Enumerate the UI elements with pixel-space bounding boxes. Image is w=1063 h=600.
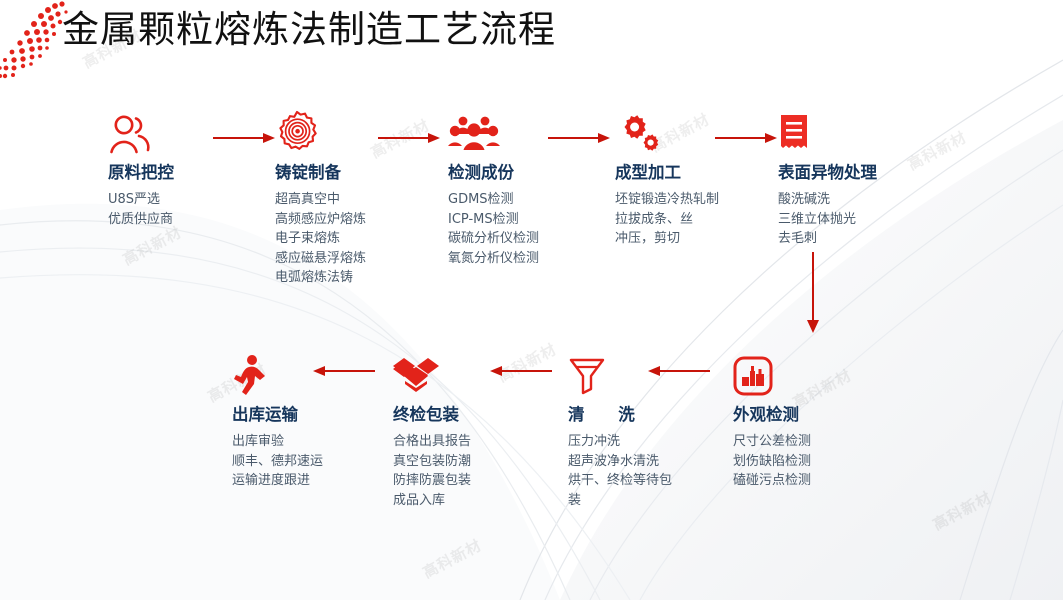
step-detail-line: 高频感应炉熔炼 [275,210,366,230]
step-detail-lines: 超高真空中 高频感应炉熔炼 电子束熔炼 感应磁悬浮熔炼 电弧熔炼法铸 [275,190,366,288]
step-detail-line: 划伤缺陷检测 [733,452,811,472]
arrow-right-icon [715,132,777,144]
step-detail-line: 感应磁悬浮熔炼 [275,249,366,269]
step-detail-lines: 尺寸公差检测 划伤缺陷检测 磕碰污点检测 [733,432,811,491]
step-title: 清 洗 [568,404,672,426]
watermark: 高科新材 [419,534,485,583]
step-raw-material-control[interactable]: 原料把控 U8S严选 优质供应商 [108,110,174,229]
watermark: 高科新材 [494,338,560,387]
step-icon-container [733,352,811,396]
open-box-filled-icon [393,356,439,396]
arrow-right-icon [548,132,610,144]
step-detail-line: 坯锭锻造冷热轧制 [615,190,719,210]
step-detail-lines: 坯锭锻造冷热轧制 拉拔成条、丝 冲压，剪切 [615,190,719,249]
step-detail-line: 运输进度跟进 [232,471,323,491]
step-title: 检测成份 [448,162,539,184]
step-cleaning[interactable]: 清 洗 压力冲洗 超声波净水清洗 烘干、终检等待包装 [568,352,672,510]
step-detail-line: 拉拔成条、丝 [615,210,719,230]
arrow-right-icon [378,132,440,144]
step-detail-line: 超高真空中 [275,190,366,210]
watermark: 高科新材 [904,126,970,175]
step-detail-line: ICP-MS检测 [448,210,539,230]
watermark: 高科新材 [929,486,995,535]
step-title: 原料把控 [108,162,174,184]
two-people-outline-icon [108,114,154,154]
background-decoration [0,0,1063,600]
step-outbound-shipping[interactable]: 出库运输 出库审验 顺丰、德邦速运 运输进度跟进 [232,352,323,491]
step-detail-line: 出库审验 [232,432,323,452]
step-title: 出库运输 [232,404,323,426]
step-icon-container [108,110,174,154]
step-title: 终检包装 [393,404,471,426]
page-title: 金属颗粒熔炼法制造工艺流程 [62,6,556,54]
step-icon-container [778,110,877,154]
step-detail-line: 碳硫分析仪检测 [448,229,539,249]
step-detail-line: 真空包装防潮 [393,452,471,472]
step-detail-line: 合格出具报告 [393,432,471,452]
step-detail-line: 尺寸公差检测 [733,432,811,452]
step-detail-line: 磕碰污点检测 [733,471,811,491]
step-detail-line: 电弧熔炼法铸 [275,268,366,288]
step-composition-inspection[interactable]: 检测成份 GDMS检测 ICP-MS检测 碳硫分析仪检测 氧氮分析仪检测 [448,110,539,268]
step-detail-line: GDMS检测 [448,190,539,210]
funnel-outline-icon [568,356,606,396]
step-detail-line: 酸洗碱洗 [778,190,877,210]
document-list-filled-icon [778,114,810,154]
step-icon-container [275,110,366,154]
arrow-left-icon [490,365,552,377]
step-appearance-inspection[interactable]: 外观检测 尺寸公差检测 划伤缺陷检测 磕碰污点检测 [733,352,811,491]
step-detail-line: 优质供应商 [108,210,174,230]
step-detail-line: 电子束熔炼 [275,229,366,249]
people-group-filled-icon [448,114,500,154]
step-detail-line: 去毛刺 [778,229,877,249]
step-icon-container [568,352,672,396]
step-detail-lines: 酸洗碱洗 三维立体抛光 去毛刺 [778,190,877,249]
step-title: 成型加工 [615,162,719,184]
step-title: 外观检测 [733,404,811,426]
step-detail-lines: U8S严选 优质供应商 [108,190,174,229]
step-ingot-preparation[interactable]: 铸锭制备 超高真空中 高频感应炉熔炼 电子束熔炼 感应磁悬浮熔炼 电弧熔炼法铸 [275,110,366,288]
step-title: 铸锭制备 [275,162,366,184]
step-icon-container [232,352,323,396]
step-icon-container [615,110,719,154]
step-detail-line: 成品入库 [393,491,471,511]
step-icon-container [448,110,539,154]
step-detail-line: 压力冲洗 [568,432,672,452]
step-detail-line: 超声波净水清洗 [568,452,672,472]
step-surface-foreign-matter-treatment[interactable]: 表面异物处理 酸洗碱洗 三维立体抛光 去毛刺 [778,110,877,249]
step-detail-line: 氧氮分析仪检测 [448,249,539,269]
step-detail-line: 三维立体抛光 [778,210,877,230]
step-detail-lines: 出库审验 顺丰、德邦速运 运输进度跟进 [232,432,323,491]
step-detail-line: 防摔防震包装 [393,471,471,491]
step-forming-processing[interactable]: 成型加工 坯锭锻造冷热轧制 拉拔成条、丝 冲压，剪切 [615,110,719,249]
step-detail-line: 烘干、终检等待包装 [568,471,672,510]
step-final-inspection-packaging[interactable]: 终检包装 合格出具报告 真空包装防潮 防摔防震包装 成品入库 [393,352,471,510]
gear-target-outline-icon [275,110,319,154]
factory-rounded-square-outline-icon [733,356,773,396]
step-detail-line: 顺丰、德邦速运 [232,452,323,472]
running-person-filled-icon [232,354,268,396]
step-icon-container [393,352,471,396]
two-gears-filled-icon [615,114,659,154]
step-detail-line: U8S严选 [108,190,174,210]
step-title: 表面异物处理 [778,162,877,184]
arrow-down-icon [804,252,822,334]
step-detail-lines: 合格出具报告 真空包装防潮 防摔防震包装 成品入库 [393,432,471,510]
arrow-right-icon [213,132,275,144]
step-detail-lines: GDMS检测 ICP-MS检测 碳硫分析仪检测 氧氮分析仪检测 [448,190,539,268]
step-detail-line: 冲压，剪切 [615,229,719,249]
step-detail-lines: 压力冲洗 超声波净水清洗 烘干、终检等待包装 [568,432,672,510]
